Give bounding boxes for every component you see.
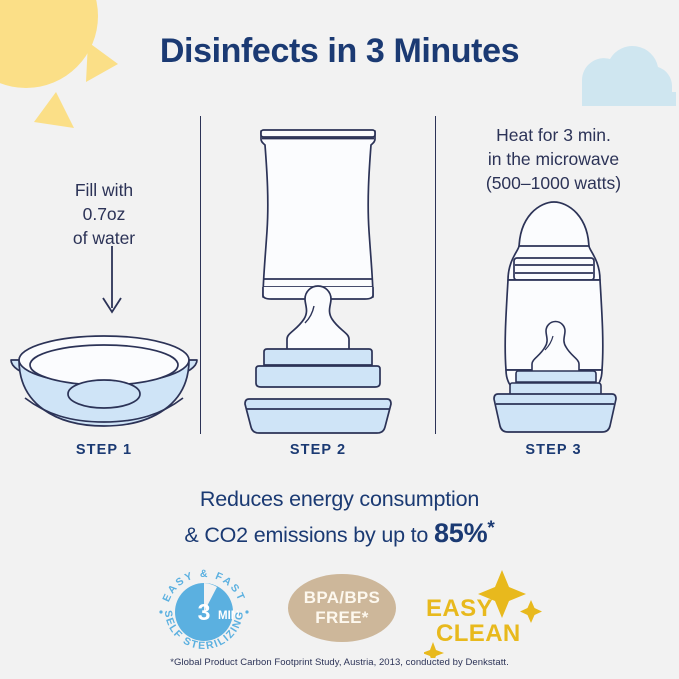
badge-row: 3 MIN EASY & FAST SELF STERILIZING BPA/B… xyxy=(0,562,679,654)
badge-bpa-line-2: FREE* xyxy=(315,608,368,628)
step-3-caption-line-2: in the microwave xyxy=(436,147,671,171)
energy-claim-asterisk: * xyxy=(487,518,494,539)
badge-bpa-line-1: BPA/BPS xyxy=(304,588,380,608)
assembled-bottle-in-base-illustration xyxy=(436,194,671,439)
badge-bpa-bps-free: BPA/BPS FREE* xyxy=(288,574,396,642)
badge-minutes-number: 3 xyxy=(198,599,211,625)
step-1-label: STEP 1 xyxy=(8,442,200,458)
bottle-teat-and-base-illustration xyxy=(201,111,435,436)
step-1-caption-line-1: Fill with xyxy=(8,178,200,202)
badge-self-sterilizing: 3 MIN EASY & FAST SELF STERILIZING xyxy=(155,562,253,660)
step-2-label: STEP 2 xyxy=(201,442,435,458)
badge-easy-clean-text: EASY CLEAN xyxy=(426,596,536,646)
badge-easy-clean-line-2: CLEAN xyxy=(426,621,536,646)
step-1-column: Fill with 0.7oz of water xyxy=(8,116,200,436)
energy-claim-line-1: Reduces energy consumption xyxy=(0,484,679,514)
water-bowl-with-arrow-illustration xyxy=(8,246,200,431)
step-3-column: Heat for 3 min. in the microwave (500–10… xyxy=(436,116,671,436)
badge-easy-clean: EASY CLEAN xyxy=(424,564,554,658)
page-title: Disinfects in 3 Minutes xyxy=(0,32,679,71)
infographic-page: Disinfects in 3 Minutes Fill with 0.7oz … xyxy=(0,0,679,679)
badge-easy-clean-line-1: EASY xyxy=(426,596,536,621)
step-1-caption-line-2: 0.7oz xyxy=(8,202,200,226)
step-3-caption: Heat for 3 min. in the microwave (500–10… xyxy=(436,123,671,195)
energy-claim-percent: 85% xyxy=(434,518,487,548)
energy-claim-prefix: & CO2 emissions by up to xyxy=(184,523,434,547)
energy-claim: Reduces energy consumption & CO2 emissio… xyxy=(0,484,679,550)
step-3-caption-line-1: Heat for 3 min. xyxy=(436,123,671,147)
step-2-column xyxy=(201,116,435,436)
step-1-caption: Fill with 0.7oz of water xyxy=(8,178,200,250)
step-3-label: STEP 3 xyxy=(436,442,671,458)
energy-claim-line-2: & CO2 emissions by up to 85%* xyxy=(0,514,679,550)
step-3-caption-line-3: (500–1000 watts) xyxy=(436,171,671,195)
footnote: *Global Product Carbon Footprint Study, … xyxy=(0,657,679,668)
